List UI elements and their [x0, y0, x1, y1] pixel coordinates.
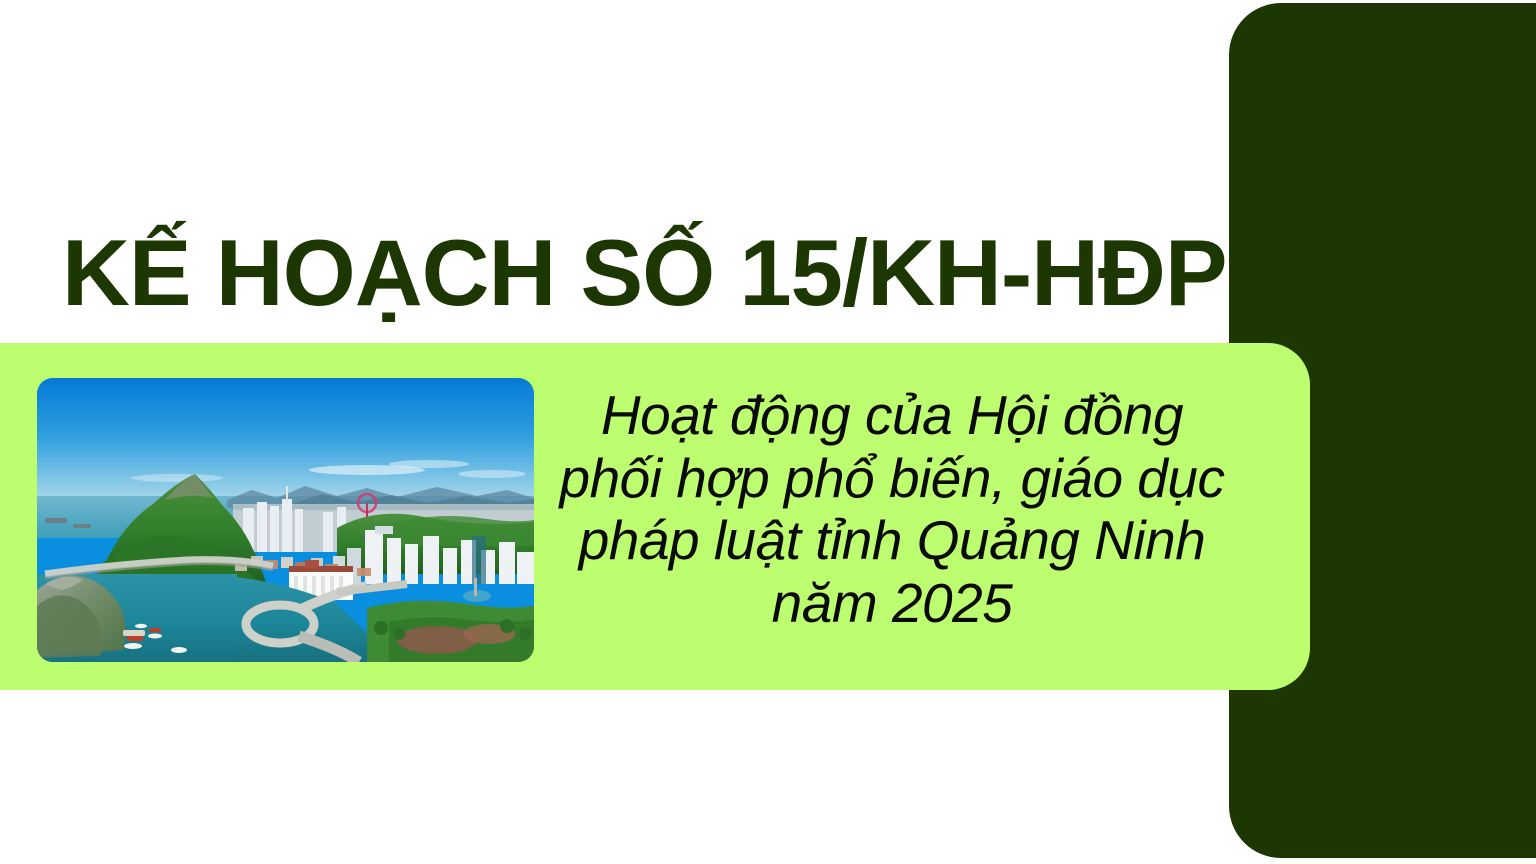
halong-bay-photo — [37, 378, 534, 662]
halong-bay-illustration — [37, 378, 534, 662]
slide-root: KẾ HOẠCH SỐ 15/KH-HĐPH — [0, 0, 1536, 864]
slide-title: KẾ HOẠCH SỐ 15/KH-HĐPH — [62, 223, 1192, 323]
slide-subtitle: Hoạt động của Hội đồng phối hợp phổ biến… — [556, 384, 1228, 635]
